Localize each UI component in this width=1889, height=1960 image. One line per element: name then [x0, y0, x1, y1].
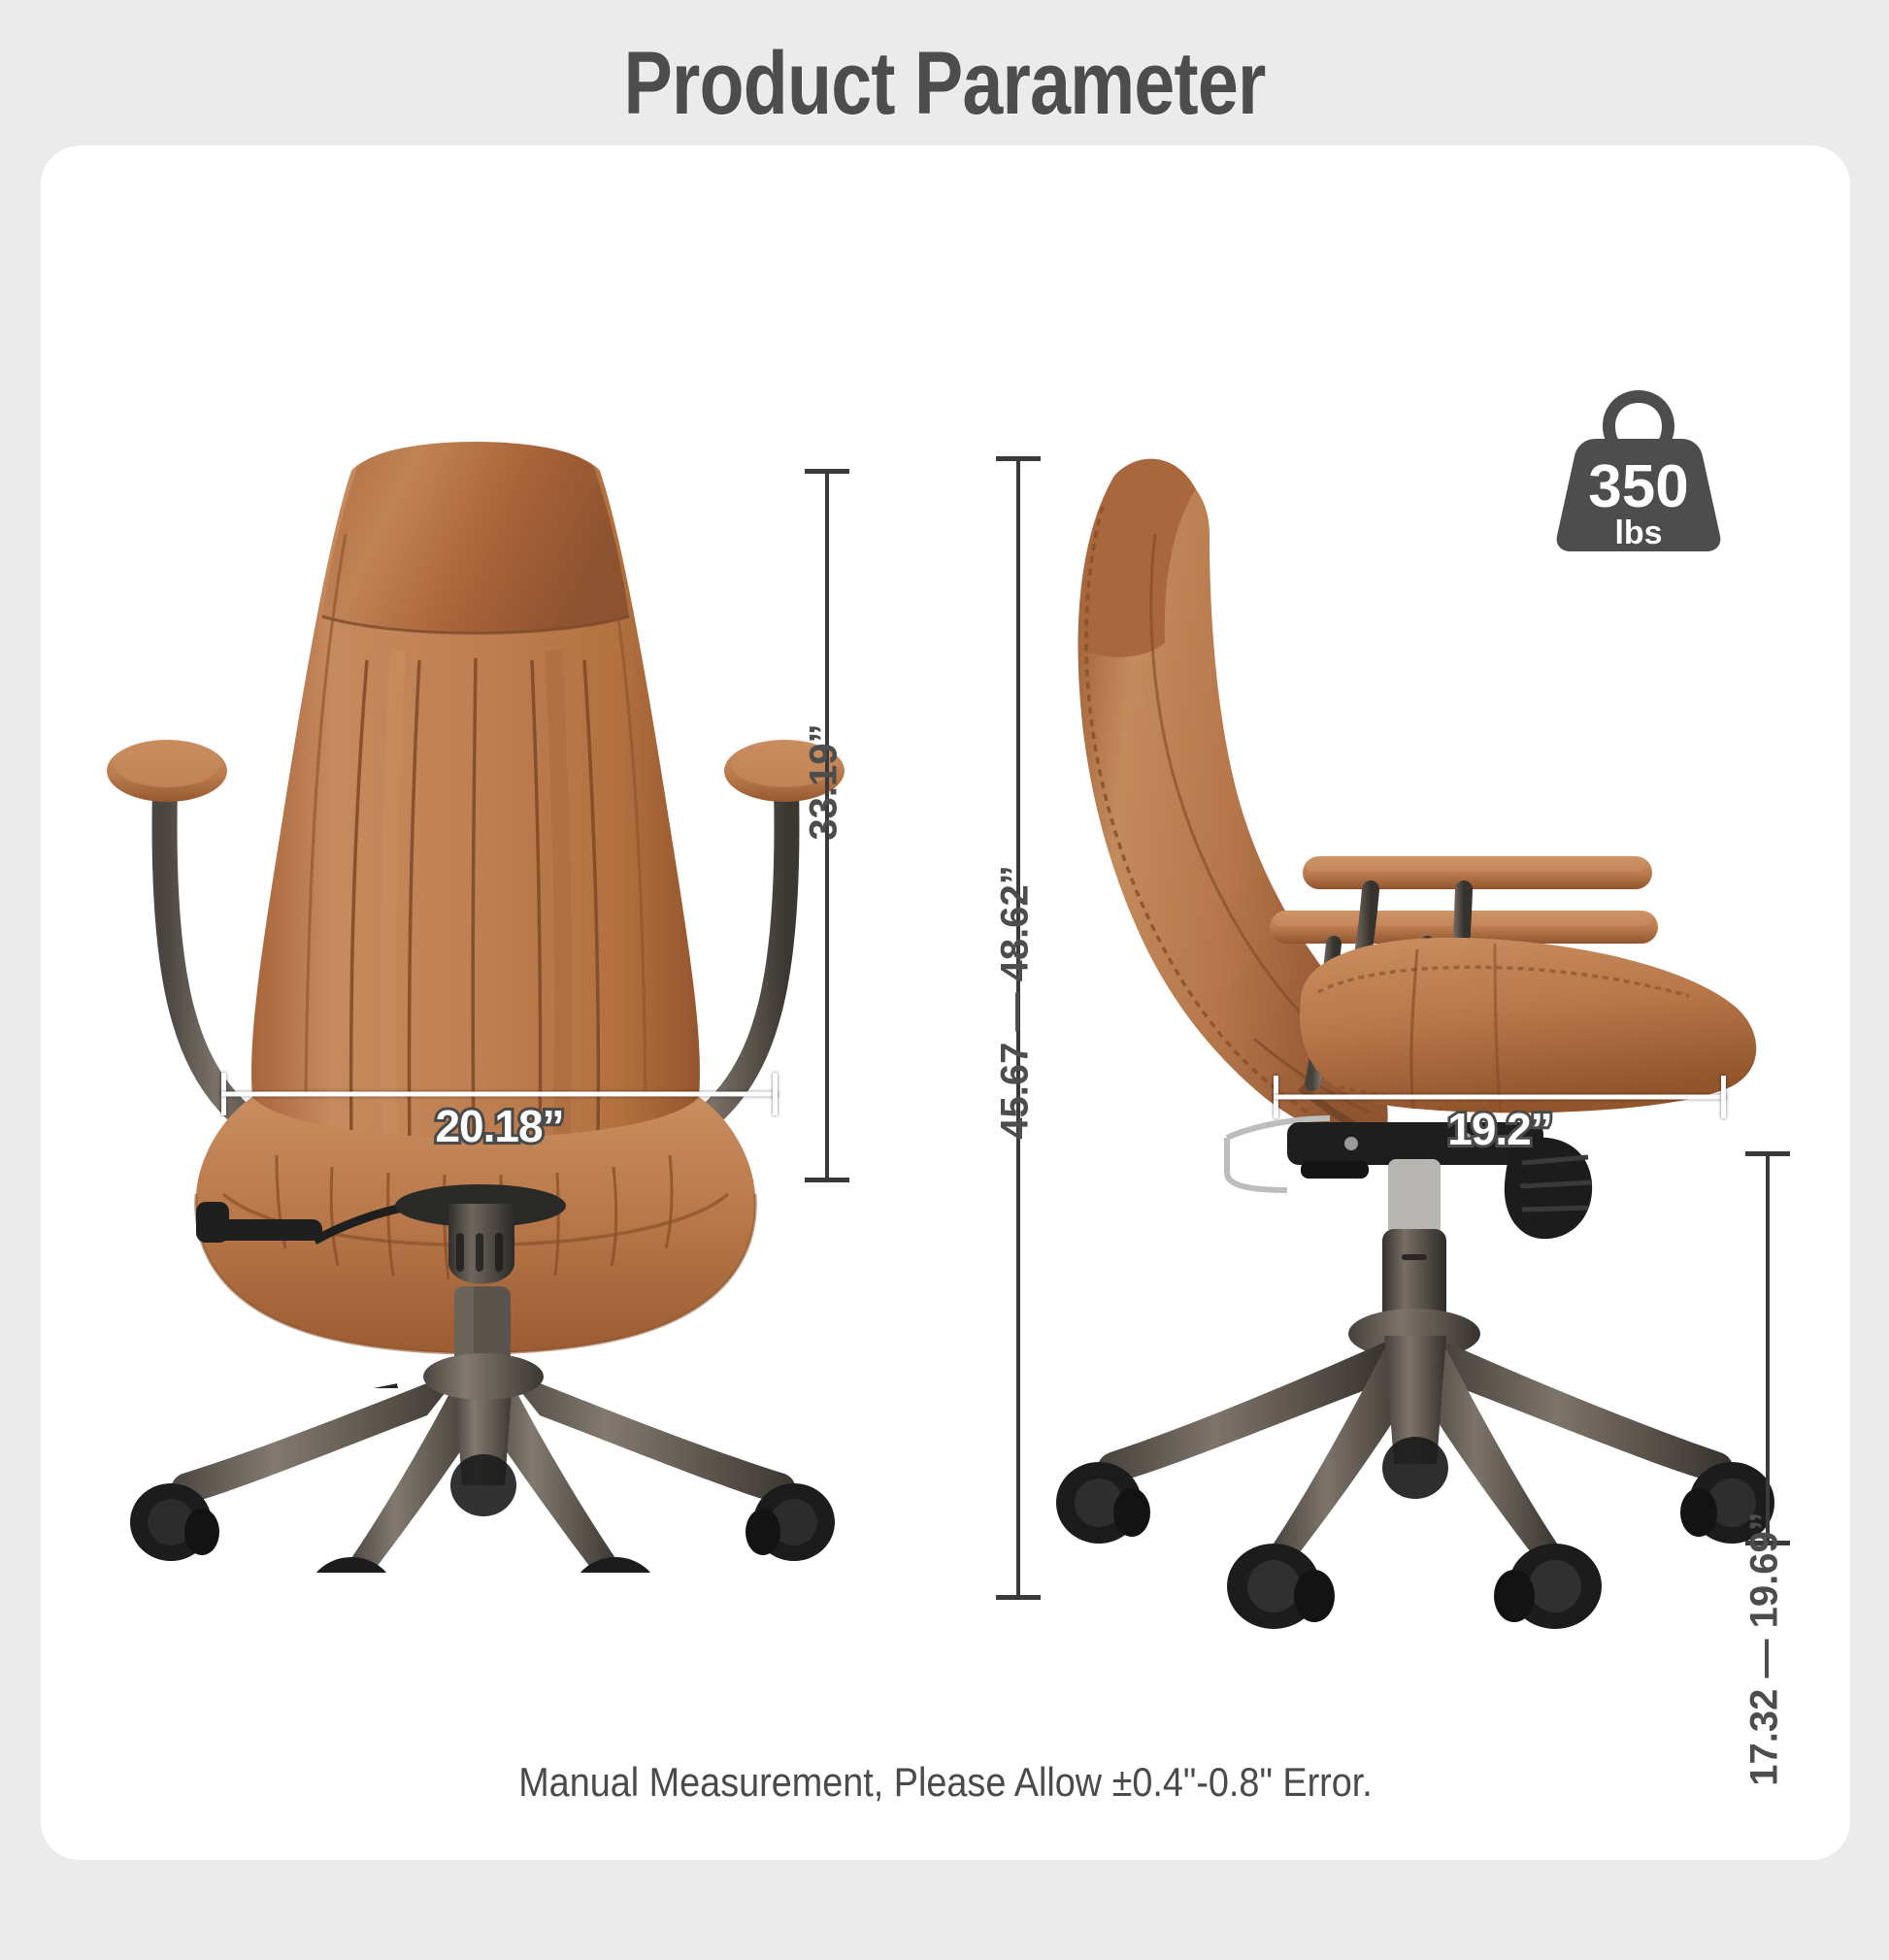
- product-parameter-page: Product Parameter: [0, 0, 1889, 1889]
- dim-tick-bottom: [996, 1595, 1041, 1600]
- gas-cylinder-side: [1382, 1159, 1446, 1332]
- dim-total-height-label: 45.67 — 48.62”: [994, 682, 1038, 1323]
- dim-seat-width-label: 20.18”: [221, 1100, 778, 1152]
- dim-back-height-label: 33.19”: [803, 622, 846, 943]
- measurement-disclaimer: Manual Measurement, Please Allow ±0.4"-0…: [131, 1759, 1760, 1806]
- dim-line: [221, 1092, 778, 1097]
- dim-tick-bottom: [805, 1178, 849, 1182]
- weight-capacity-badge: 350 lbs: [1553, 386, 1724, 551]
- dim-seat-height-label: 17.32 — 19.69”: [1743, 1339, 1787, 1960]
- dim-back-height: 33.19”: [805, 469, 849, 1182]
- dim-seat-width: 20.18”: [221, 1073, 778, 1115]
- weight-value: 350: [1588, 453, 1688, 520]
- page-title: Product Parameter: [170, 33, 1719, 135]
- dim-seat-height: 17.32 — 19.69”: [1745, 1151, 1790, 1545]
- dim-seat-depth: 19.2”: [1274, 1076, 1726, 1118]
- weight-unit: lbs: [1614, 515, 1662, 551]
- dim-total-height: 45.67 — 48.62”: [996, 456, 1041, 1600]
- office-chair-front-base: [107, 1165, 845, 1573]
- dim-line: [1274, 1095, 1726, 1100]
- dim-seat-depth-label: 19.2”: [1274, 1103, 1726, 1155]
- office-chair-side-view: [1010, 417, 1786, 1631]
